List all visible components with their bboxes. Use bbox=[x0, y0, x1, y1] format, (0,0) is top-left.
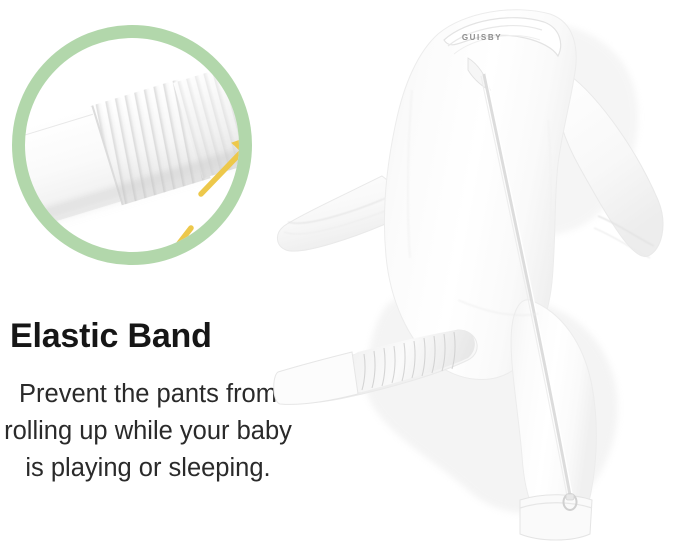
product-feature-graphic: Elastic Band Prevent the pants from roll… bbox=[0, 0, 679, 551]
stretch-arrow-up-icon bbox=[193, 130, 239, 202]
cuff-closeup-photo bbox=[25, 38, 239, 252]
right-leg-foot-cuff bbox=[520, 495, 592, 540]
feature-description: Prevent the pants from rolling up while … bbox=[2, 376, 294, 487]
left-leg-foot-cuff bbox=[274, 352, 358, 404]
feature-panel: Elastic Band Prevent the pants from roll… bbox=[0, 0, 300, 551]
feature-heading: Elastic Band bbox=[10, 316, 296, 356]
stretch-arrow-down-icon bbox=[133, 220, 205, 252]
circle-callout bbox=[12, 25, 252, 265]
left-sleeve bbox=[277, 176, 399, 251]
product-photo-romper bbox=[262, 0, 679, 551]
